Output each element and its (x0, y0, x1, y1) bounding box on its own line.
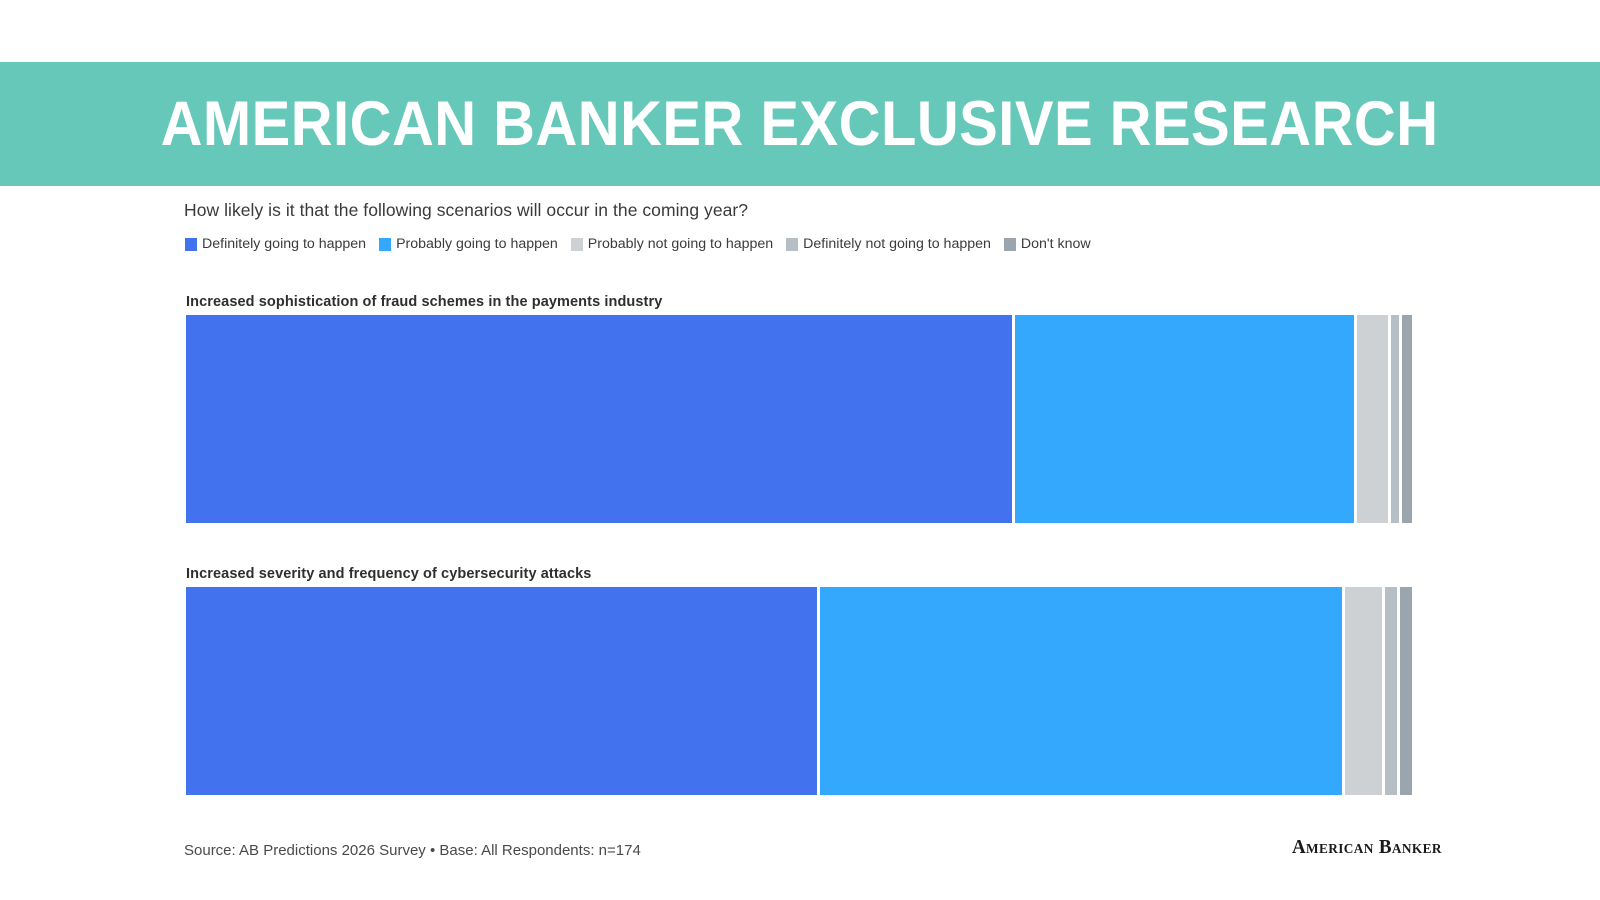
legend-swatch-icon (379, 238, 391, 251)
bar-category-label: Increased severity and frequency of cybe… (186, 566, 1412, 582)
legend-item[interactable]: Definitely going to happen (185, 236, 366, 252)
bar-segment[interactable] (1400, 587, 1412, 795)
legend-item-label: Definitely going to happen (202, 236, 366, 252)
bar-group: Increased sophistication of fraud scheme… (186, 294, 1412, 523)
bar-segment[interactable] (1385, 587, 1397, 795)
legend-item[interactable]: Probably not going to happen (571, 236, 773, 252)
legend-item-label: Probably going to happen (396, 236, 558, 252)
stacked-bar-track (186, 315, 1412, 523)
header-banner: AMERICAN BANKER EXCLUSIVE RESEARCH (0, 62, 1600, 186)
bar-segment[interactable] (820, 587, 1342, 795)
bar-segment[interactable] (1391, 315, 1399, 523)
american-banker-logo: American Banker (1288, 836, 1422, 859)
stacked-bar-track (186, 587, 1412, 795)
chart-legend: Definitely going to happenProbably going… (185, 236, 1091, 252)
source-note: Source: AB Predictions 2026 Survey • Bas… (184, 842, 641, 859)
bar-segment[interactable] (1402, 315, 1412, 523)
legend-item[interactable]: Probably going to happen (379, 236, 558, 252)
chart-question-title: How likely is it that the following scen… (184, 200, 748, 221)
bar-segment[interactable] (1015, 315, 1355, 523)
bar-segment[interactable] (186, 315, 1012, 523)
legend-item-label: Don't know (1021, 236, 1091, 252)
bar-segment[interactable] (1357, 315, 1387, 523)
legend-swatch-icon (185, 238, 197, 251)
legend-item-label: Definitely not going to happen (803, 236, 991, 252)
legend-swatch-icon (571, 238, 583, 251)
bar-segment[interactable] (186, 587, 817, 795)
american-banker-logo-text: American Banker (1292, 836, 1442, 859)
legend-item[interactable]: Definitely not going to happen (786, 236, 991, 252)
legend-item-label: Probably not going to happen (588, 236, 773, 252)
legend-item[interactable]: Don't know (1004, 236, 1091, 252)
header-title: AMERICAN BANKER EXCLUSIVE RESEARCH (161, 93, 1439, 156)
bar-group: Increased severity and frequency of cybe… (186, 566, 1412, 795)
bar-segment[interactable] (1345, 587, 1381, 795)
legend-swatch-icon (1004, 238, 1016, 251)
legend-swatch-icon (786, 238, 798, 251)
chart-panel: How likely is it that the following scen… (0, 186, 1600, 900)
bar-category-label: Increased sophistication of fraud scheme… (186, 294, 1412, 310)
